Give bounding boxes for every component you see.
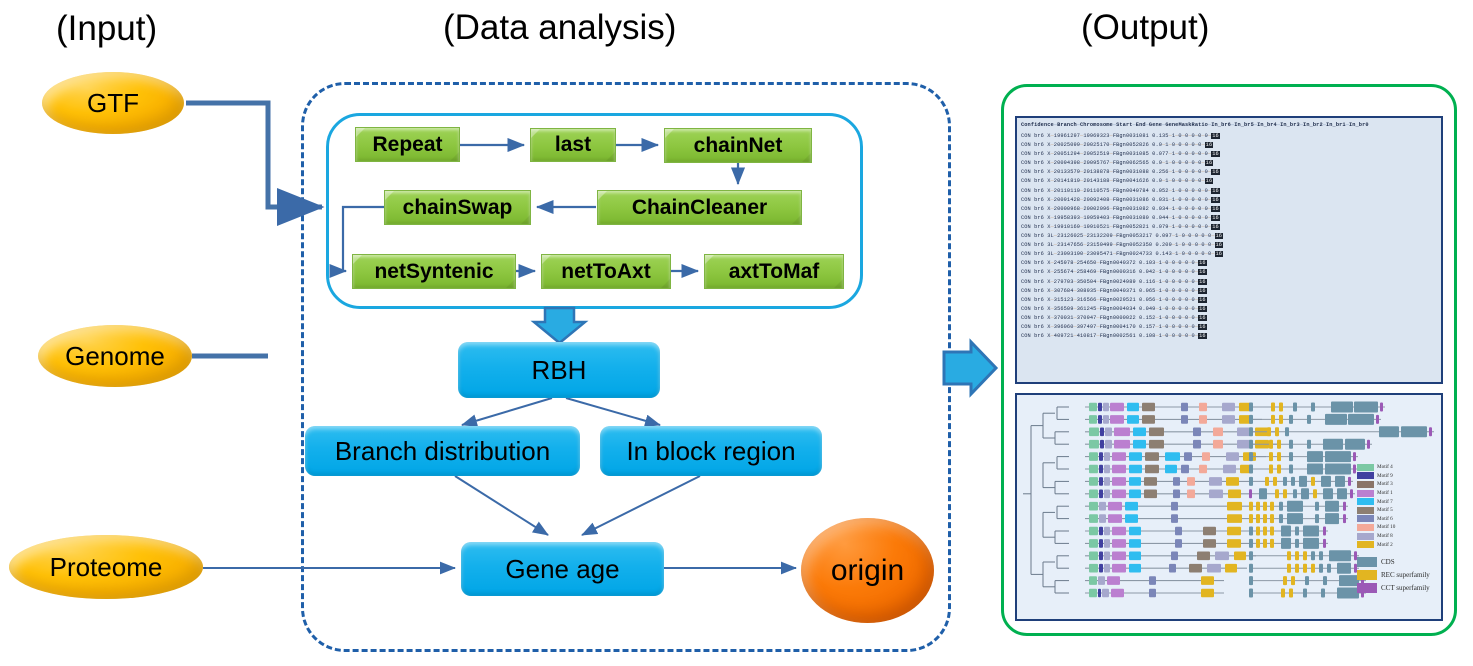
legend-swatch — [1357, 583, 1377, 593]
table-row: CON br6 X—20110110—20110575—FBgn0040784 … — [1021, 187, 1223, 196]
table-row: CON br6 X—19961297—19969323—FBgn0031081 … — [1021, 132, 1223, 141]
legend-label: Motif 4 — [1377, 464, 1393, 470]
legend-label: Motif 7 — [1377, 499, 1393, 505]
tool-label-last: last — [555, 133, 591, 157]
legend-swatch — [1357, 498, 1374, 505]
result-label-origin: origin — [831, 554, 904, 588]
legend-swatch — [1357, 481, 1374, 488]
legend-label: Motif 10 — [1377, 524, 1395, 530]
legend-label: Motif 2 — [1377, 542, 1393, 548]
legend-swatch — [1357, 524, 1374, 531]
tool-node-last[interactable]: last — [530, 128, 616, 162]
table-row: CON br6 3L—23093190—23095471—FBgn0024733… — [1021, 250, 1223, 259]
tool-node-netsyntenic[interactable]: netSyntenic — [352, 254, 516, 289]
legend-label: CCT superfamily — [1381, 584, 1430, 592]
legend-item: Motif 4 — [1357, 463, 1395, 472]
process-label-gene-age: Gene age — [505, 554, 619, 585]
legend-swatch — [1357, 507, 1374, 514]
legend-label: Motif 1 — [1377, 490, 1393, 496]
legend-item: CDS — [1357, 555, 1430, 568]
table-row: CON br6 X—370031—370947—FBgn0000022 0.15… — [1021, 314, 1223, 323]
legend-swatch — [1357, 557, 1377, 567]
legend-item: CCT superfamily — [1357, 581, 1430, 594]
table-row: CON br6 X—20133579—20138878—FBgn0031088 … — [1021, 168, 1223, 177]
legend-label: CDS — [1381, 558, 1395, 566]
table-row: CON br6 X—279703—350504—FBgn0024989 0.11… — [1021, 278, 1223, 287]
tool-label-chaincleaner: ChainCleaner — [632, 196, 767, 220]
tool-node-repeat[interactable]: Repeat — [355, 127, 460, 162]
table-row: CON br6 X—315123—316566—FBgn0029521 0.05… — [1021, 296, 1223, 305]
output-table-header: Confidence—Branch—Chromosome—Start—End—G… — [1021, 121, 1369, 130]
process-node-rbh[interactable]: RBH — [458, 342, 660, 398]
process-node-branch-distribution[interactable]: Branch distribution — [305, 426, 580, 476]
tool-label-repeat: Repeat — [372, 133, 442, 157]
legend-swatch — [1357, 464, 1374, 471]
process-label-in-block-region: In block region — [626, 436, 795, 467]
table-row: CON br6 X—255674—258469—FBgn0000316 0.04… — [1021, 268, 1223, 277]
legend-label: Motif 3 — [1377, 481, 1393, 487]
legend-swatch — [1357, 541, 1374, 548]
table-row: CON br6 X—245978—254650—FBgn0040372 0.10… — [1021, 259, 1223, 268]
table-row: CON br6 3L—23147656—23150499—FBgn0052350… — [1021, 241, 1223, 250]
legend-item: REC superfamily — [1357, 568, 1430, 581]
tool-label-netsyntenic: netSyntenic — [374, 260, 493, 284]
table-row: CON br6 X—409721—410817—FBgn0002561 0.10… — [1021, 332, 1223, 341]
legend-label: REC superfamily — [1381, 571, 1430, 579]
output-table-screenshot[interactable]: Confidence—Branch—Chromosome—Start—End—G… — [1015, 116, 1443, 384]
tool-label-chainnet: chainNet — [694, 134, 783, 158]
tool-label-axttomaf: axtToMaf — [729, 260, 820, 284]
table-row: CON br6 X—307684—308935—FBgn0040371 0.06… — [1021, 287, 1223, 296]
table-row: CON br6 X—19910169—19910521—FBgn0052821 … — [1021, 223, 1223, 232]
table-row: CON br6 X—20094398—20095767—FBgn0062565 … — [1021, 159, 1223, 168]
tool-node-nettoaxt[interactable]: netToAxt — [541, 254, 671, 289]
result-node-origin[interactable]: origin — [801, 518, 934, 623]
section-title-input: (Input) — [56, 9, 157, 49]
tool-node-chainnet[interactable]: chainNet — [664, 128, 812, 163]
legend-item: Motif 1 — [1357, 489, 1395, 498]
legend-item: Motif 5 — [1357, 506, 1395, 515]
legend-item: Motif 7 — [1357, 497, 1395, 506]
table-row: CON br6 X—20091428—20092408—FBgn0031086 … — [1021, 196, 1223, 205]
tool-label-nettoaxt: netToAxt — [561, 260, 650, 284]
process-label-branch-distribution: Branch distribution — [335, 436, 550, 467]
legend-swatch — [1357, 472, 1374, 479]
legend-label: Motif 8 — [1377, 533, 1393, 539]
table-row: CON br6 X—20051294—20052519—FBgn0031085 … — [1021, 150, 1223, 159]
legend-label: Motif 5 — [1377, 507, 1393, 513]
process-node-gene-age[interactable]: Gene age — [461, 542, 664, 596]
input-node-gtf[interactable]: GTF — [42, 72, 184, 134]
table-row: CON br6 X—356509—361245—FBgn0004034 0.04… — [1021, 305, 1223, 314]
input-node-genome[interactable]: Genome — [38, 325, 192, 387]
legend-label: Motif 6 — [1377, 516, 1393, 522]
legend-item: Motif 2 — [1357, 540, 1395, 549]
legend-label: Motif 9 — [1377, 473, 1393, 479]
legend-item: Motif 9 — [1357, 472, 1395, 481]
legend-item: Motif 6 — [1357, 515, 1395, 524]
legend-swatch — [1357, 490, 1374, 497]
input-label-gtf: GTF — [87, 88, 139, 119]
tool-node-chainswap[interactable]: chainSwap — [384, 190, 531, 225]
table-row: CON br6 3L—23126025—23132209—FBgn0053217… — [1021, 232, 1223, 241]
legend-swatch — [1357, 570, 1377, 580]
table-row: CON br6 X—396060—397497—FBgn0004170 0.15… — [1021, 323, 1223, 332]
table-row: CON br6 X—19958393—19959403—FBgn0031080 … — [1021, 214, 1223, 223]
process-node-in-block-region[interactable]: In block region — [600, 426, 822, 476]
flowchart-canvas: (Input) (Data analysis) (Output) — [0, 0, 1473, 666]
legend-swatch — [1357, 515, 1374, 522]
output-table-body: CON br6 X—19961297—19969323—FBgn0031081 … — [1021, 132, 1223, 341]
input-label-proteome: Proteome — [50, 552, 163, 583]
tool-node-chaincleaner[interactable]: ChainCleaner — [597, 190, 802, 225]
tool-node-axttomaf[interactable]: axtToMaf — [704, 254, 844, 289]
table-row: CON br6 X—20141819—20143188—FBgn0041626 … — [1021, 177, 1223, 186]
legend-item: Motif 10 — [1357, 523, 1395, 532]
flow-arrow-output — [944, 342, 996, 394]
output-motif-diagram[interactable]: Motif 4Motif 9Motif 3Motif 1Motif 7Motif… — [1015, 393, 1443, 621]
input-node-proteome[interactable]: Proteome — [9, 535, 203, 599]
legend-swatch — [1357, 533, 1374, 540]
domain-legend: CDSREC superfamilyCCT superfamily — [1357, 555, 1430, 594]
table-row: CON br6 X—20025099—20025170—FBgn0052826 … — [1021, 141, 1223, 150]
legend-item: Motif 3 — [1357, 480, 1395, 489]
tool-label-chainswap: chainSwap — [403, 196, 513, 220]
legend-item: Motif 8 — [1357, 532, 1395, 541]
table-row: CON br6 X—20000968—20002096—FBgn0031082 … — [1021, 205, 1223, 214]
input-label-genome: Genome — [65, 341, 165, 372]
process-label-rbh: RBH — [532, 355, 587, 386]
section-title-output: (Output) — [1081, 8, 1209, 48]
section-title-analysis: (Data analysis) — [443, 8, 676, 48]
motif-legend: Motif 4Motif 9Motif 3Motif 1Motif 7Motif… — [1357, 463, 1395, 549]
